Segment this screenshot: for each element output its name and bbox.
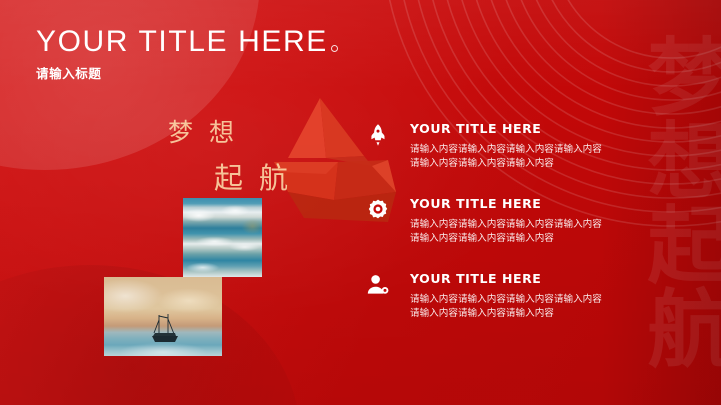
list-item[interactable]: YOUR TITLE HERE 请输入内容请输入内容请输入内容请输入内容 请输入… [366, 120, 666, 186]
page-title: YOUR TITLE HERE [36, 27, 338, 57]
sea-clouds-photo [183, 198, 262, 277]
list-item-body-line2: 请输入内容请输入内容请输入内容 [410, 232, 636, 246]
gear-icon [366, 198, 390, 222]
list-item-body-line1: 请输入内容请输入内容请输入内容请输入内容 [410, 143, 636, 157]
title-period-icon [331, 45, 338, 52]
list-item-body-line2: 请输入内容请输入内容请输入内容 [410, 307, 636, 321]
page-subtitle: 请输入标题 [36, 63, 338, 82]
title-block: YOUR TITLE HERE 请输入标题 [36, 27, 338, 82]
list-item-body: 请输入内容请输入内容请输入内容请输入内容 请输入内容请输入内容请输入内容 [410, 218, 636, 246]
list-item[interactable]: YOUR TITLE HERE 请输入内容请输入内容请输入内容请输入内容 请输入… [366, 270, 666, 336]
presentation-slide: 梦想起航 [0, 0, 721, 405]
list-item-title: YOUR TITLE HERE [410, 270, 666, 286]
list-item-body-line1: 请输入内容请输入内容请输入内容请输入内容 [410, 218, 636, 232]
list-item-title: YOUR TITLE HERE [410, 195, 666, 211]
list-item[interactable]: YOUR TITLE HERE 请输入内容请输入内容请输入内容请输入内容 请输入… [366, 195, 666, 261]
center-headline: 梦想 起航 [168, 112, 308, 202]
bullet-list: YOUR TITLE HERE 请输入内容请输入内容请输入内容请输入内容 请输入… [366, 120, 666, 345]
list-item-body-line2: 请输入内容请输入内容请输入内容 [410, 157, 636, 171]
list-item-body-line1: 请输入内容请输入内容请输入内容请输入内容 [410, 293, 636, 307]
center-headline-line2: 起航 [214, 164, 304, 193]
sailing-ship-sunset-photo [104, 277, 222, 356]
page-title-text: YOUR TITLE HERE [36, 25, 328, 58]
user-settings-icon [366, 273, 390, 297]
ship-silhouette-icon [143, 307, 187, 351]
list-item-body: 请输入内容请输入内容请输入内容请输入内容 请输入内容请输入内容请输入内容 [410, 293, 636, 321]
rocket-icon [366, 123, 390, 147]
list-item-body: 请输入内容请输入内容请输入内容请输入内容 请输入内容请输入内容请输入内容 [410, 143, 636, 171]
center-headline-line1: 梦想 [168, 120, 250, 145]
list-item-title: YOUR TITLE HERE [410, 120, 666, 136]
